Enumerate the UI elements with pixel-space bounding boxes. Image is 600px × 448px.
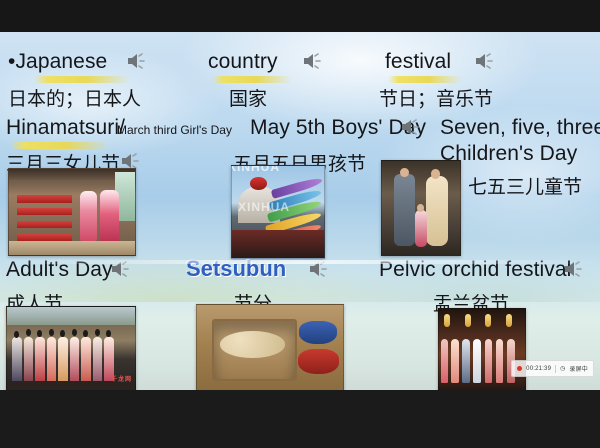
presentation-slide: •Japanese 日本的；日本人 country 国家 festival 节日…	[0, 32, 600, 390]
clock-icon: ◷	[560, 365, 565, 372]
recording-timestamp: 00:21:39	[526, 366, 551, 372]
photo-watermark-qianlong: 千龙网	[111, 374, 132, 383]
term-japanese-en: •Japanese	[8, 50, 107, 74]
divider	[555, 365, 556, 373]
speaker-icon[interactable]	[400, 118, 422, 136]
underline-hinamatsuri	[10, 142, 110, 149]
letterbox-top	[0, 0, 600, 32]
term-adultsday-en: Adult's Day	[6, 258, 113, 282]
speaker-icon[interactable]	[110, 260, 132, 278]
speaker-icon[interactable]	[126, 52, 148, 70]
term-japanese-cn: 日本的；日本人	[8, 84, 141, 111]
photo-watermark-xinhua: XINHUA	[231, 165, 280, 174]
obon-dance-festival-photo	[438, 308, 526, 390]
video-player-frame: •Japanese 日本的；日本人 country 国家 festival 节日…	[0, 0, 600, 448]
speaker-icon[interactable]	[302, 52, 324, 70]
term-shichigosan-cn: 七五三儿童节	[468, 172, 582, 199]
underline-japanese	[34, 76, 130, 83]
term-festival-cn: 节日；音乐节	[379, 84, 493, 111]
shichi-go-san-family-photo	[381, 160, 461, 256]
recording-indicator: 00:21:39 ◷ 录屏中	[511, 360, 594, 377]
setsubun-beans-box-photo	[196, 304, 344, 390]
term-obon-en: Pelvic orchid festival	[379, 258, 571, 282]
record-dot-icon	[517, 366, 522, 371]
underline-country	[212, 76, 292, 83]
speaker-icon[interactable]	[474, 52, 496, 70]
photo-watermark-xinhua: XINHUA	[238, 200, 290, 214]
term-country-en: country	[208, 50, 278, 74]
recording-label: 录屏中	[569, 364, 588, 373]
term-festival-en: festival	[385, 50, 451, 74]
term-setsubun-en: Setsubun	[186, 256, 286, 282]
hinamatsuri-doll-display-photo	[8, 168, 136, 256]
term-country-cn: 国家	[229, 84, 267, 111]
letterbox-bottom	[0, 390, 600, 448]
term-hinamatsuri-en-gloss: March third Girl's Day	[117, 123, 232, 137]
koinobori-carp-streamers-photo: XINHUA XINHUA	[231, 165, 325, 259]
speaker-icon[interactable]	[563, 260, 585, 278]
coming-of-age-kimono-photo: 千龙网	[6, 306, 136, 390]
term-shichigosan-en: Seven, five, three	[440, 116, 600, 140]
underline-festival	[388, 76, 462, 83]
term-hinamatsuri-en: Hinamatsuri/	[6, 116, 125, 140]
speaker-icon[interactable]	[308, 260, 330, 278]
